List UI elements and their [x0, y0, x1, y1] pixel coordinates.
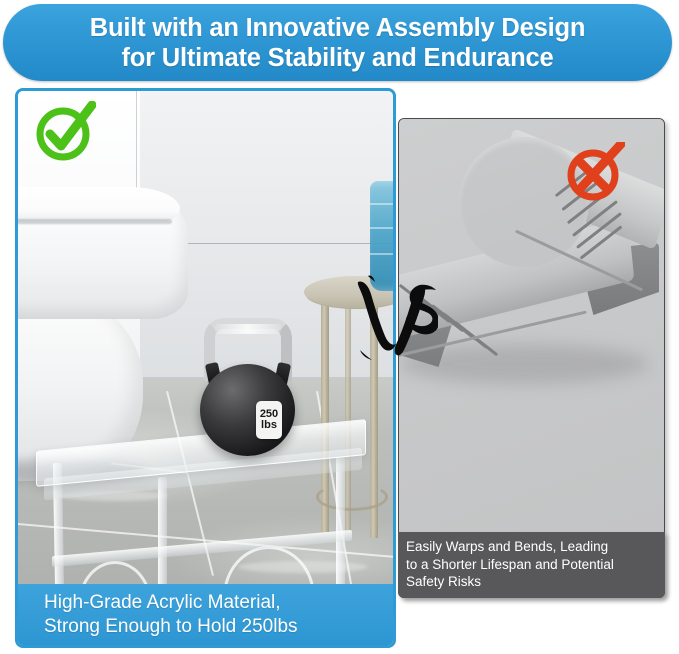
acrylic-stool-photo: 250 lbs — [18, 91, 393, 645]
toilet-lid — [15, 187, 180, 221]
toilet-lid-shadow — [15, 219, 172, 224]
left-caption-text: High-Grade Acrylic Material, Strong Enou… — [44, 591, 298, 639]
kettlebell-weight-label: 250 lbs — [256, 401, 282, 439]
comparison-panel-good: 250 lbs High-Grade Acrylic Material, Str… — [15, 88, 396, 648]
green-check-icon — [34, 101, 96, 163]
header-banner: Built with an Innovative Assembly Design… — [3, 4, 672, 81]
acrylic-stool-leg — [336, 457, 345, 597]
vase-highlight — [370, 253, 396, 255]
vase-highlight — [370, 203, 396, 205]
kettlebell-handle-highlight — [214, 324, 282, 334]
weight-unit: lbs — [261, 420, 277, 431]
right-caption-box: Easily Warps and Bends, Leading to a Sho… — [398, 532, 665, 598]
red-x-icon — [565, 142, 625, 202]
right-caption-text: Easily Warps and Bends, Leading to a Sho… — [406, 538, 657, 591]
side-table-ring — [316, 483, 388, 511]
left-caption-band: High-Grade Acrylic Material, Strong Enou… — [18, 584, 393, 645]
vs-label — [352, 272, 438, 360]
vase-highlight — [370, 227, 396, 229]
page-title: Built with an Innovative Assembly Design… — [76, 13, 600, 73]
